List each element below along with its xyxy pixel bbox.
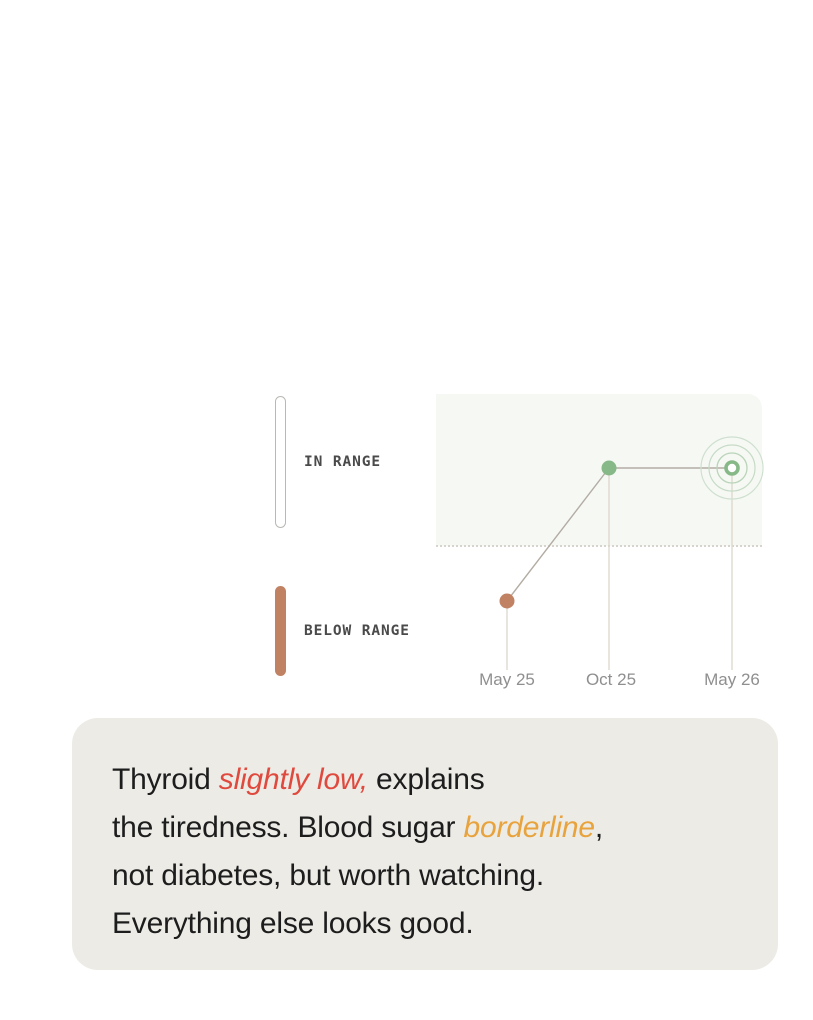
summary-note-card: Thyroid slightly low, explains the tired… <box>72 718 778 970</box>
summary-note-text: Thyroid slightly low, explains the tired… <box>112 756 738 948</box>
plot-area <box>436 394 762 674</box>
x-tick-label-2: Oct 25 <box>586 670 636 690</box>
x-axis: May 25 Oct 25 May 26 <box>436 670 776 696</box>
below-range-bar-icon <box>275 586 286 676</box>
note-line3: not diabetes, but worth watching. <box>112 859 544 892</box>
plot-svg <box>436 394 762 674</box>
note-line4: Everything else looks good. <box>112 907 474 940</box>
chart-legend: IN RANGE BELOW RANGE <box>275 396 435 681</box>
legend-label-in-range: IN RANGE <box>304 454 381 470</box>
legend-item-in-range: IN RANGE <box>275 396 381 528</box>
in-range-bar-icon <box>275 396 286 528</box>
x-tick-label-3: May 26 <box>704 670 760 690</box>
note-line2-part-a: the tiredness. Blood sugar <box>112 811 463 844</box>
x-tick-label-1: May 25 <box>479 670 535 690</box>
trend-line <box>507 468 732 601</box>
note-line2-part-b: , <box>595 811 603 844</box>
health-trend-chart: IN RANGE BELOW RANGE M <box>0 0 813 718</box>
legend-item-below-range: BELOW RANGE <box>275 586 410 676</box>
note-highlight-borderline: borderline <box>463 811 594 844</box>
note-highlight-slightly-low: slightly low, <box>219 763 368 796</box>
data-point-may-26[interactable] <box>726 462 738 474</box>
data-point-oct-25[interactable] <box>602 461 617 476</box>
note-line1-part-b: explains <box>368 763 485 796</box>
note-line1-part-a: Thyroid <box>112 763 219 796</box>
data-point-may-25[interactable] <box>500 594 515 609</box>
legend-label-below-range: BELOW RANGE <box>304 623 410 639</box>
